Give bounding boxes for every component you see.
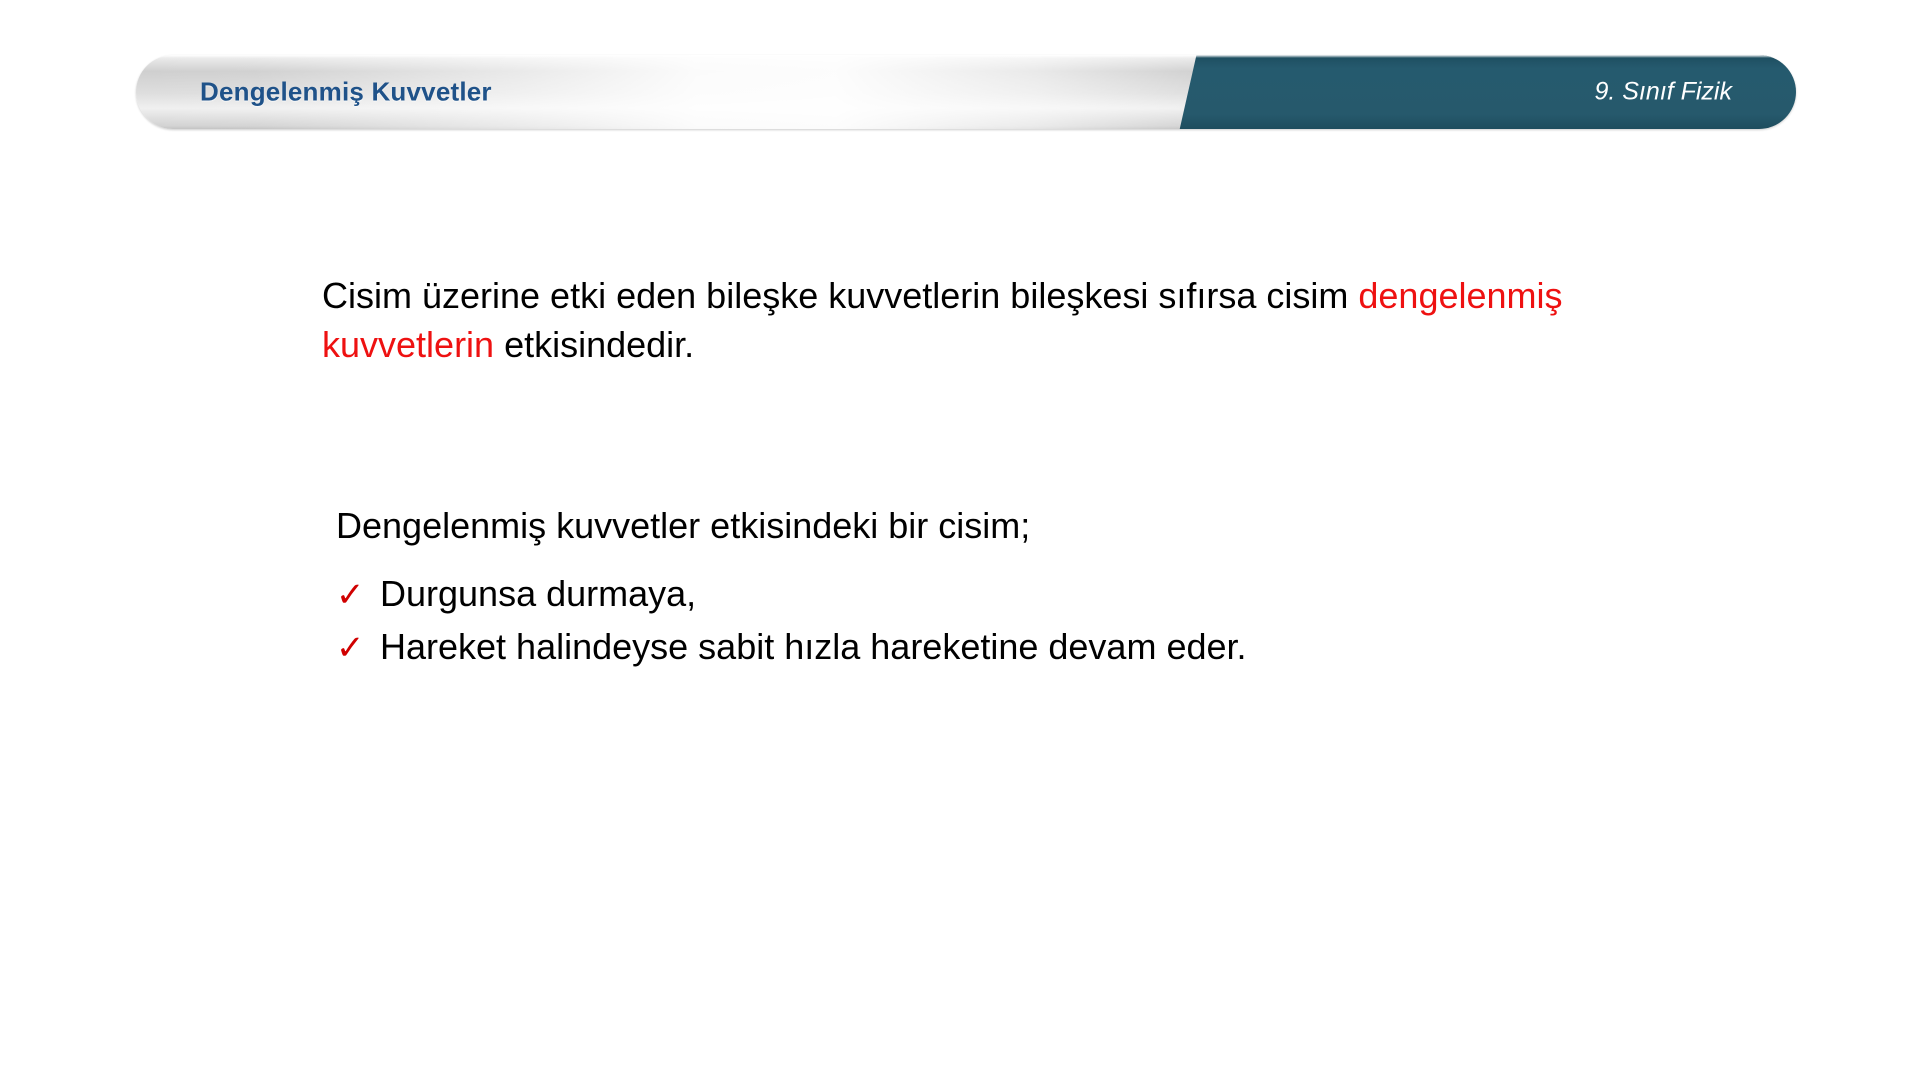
list-item: ✓ Durgunsa durmaya, <box>336 570 1736 619</box>
slide-canvas: Dengelenmiş Kuvvetler 9. Sınıf Fizik Cis… <box>0 0 1920 1080</box>
list-item: ✓ Hareket halindeyse sabit hızla hareket… <box>336 623 1736 672</box>
intro-text-part1: Cisim üzerine etki eden bileşke kuvvetle… <box>322 275 1358 316</box>
intro-paragraph: Cisim üzerine etki eden bileşke kuvvetle… <box>322 272 1742 370</box>
bullet-list: ✓ Durgunsa durmaya, ✓ Hareket halindeyse… <box>336 570 1736 676</box>
list-item-label: Hareket halindeyse sabit hızla hareketin… <box>380 623 1247 672</box>
intro-text-part2: etkisindedir. <box>494 324 694 365</box>
check-icon: ✓ <box>336 625 362 671</box>
slide-content: Cisim üzerine etki eden bileşke kuvvetle… <box>0 0 1920 1080</box>
check-icon: ✓ <box>336 572 362 618</box>
list-item-label: Durgunsa durmaya, <box>380 570 696 619</box>
lead-in-line: Dengelenmiş kuvvetler etkisindeki bir ci… <box>336 502 1636 551</box>
